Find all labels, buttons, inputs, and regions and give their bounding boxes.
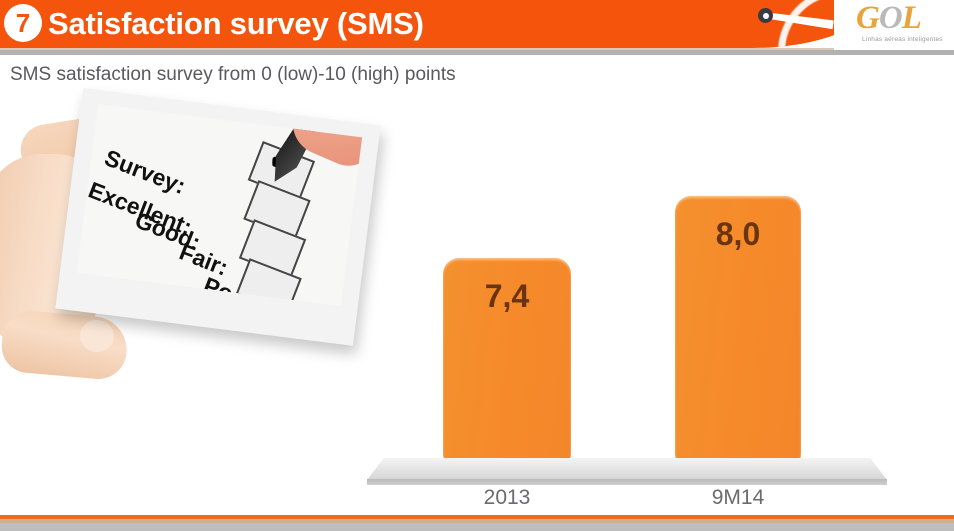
- logo-wordmark: GOL: [856, 0, 921, 37]
- survey-checkbox-column: ✓: [205, 141, 339, 306]
- slide-root: 7 Satisfaction survey (SMS) GOL Linhas a…: [0, 0, 954, 531]
- footer-band: [0, 523, 954, 531]
- logo-tagline: Linhas aéreas inteligentes: [862, 36, 943, 43]
- bar-chart: 7,4 8,0 2013 9M14: [355, 170, 900, 520]
- category-label-2013: 2013: [443, 486, 571, 510]
- bar-9m14: 8,0: [675, 196, 801, 470]
- bar-value-label: 7,4: [443, 278, 571, 315]
- section-number-badge: 7: [4, 4, 42, 42]
- subtitle-text: SMS satisfaction survey from 0 (low)-10 …: [10, 64, 456, 86]
- polaroid-photo: Survey: Excellent: Good: Fair: Poor: ✓: [77, 104, 362, 306]
- logo-letter-o: O: [879, 0, 902, 36]
- floor-front-edge: [367, 479, 887, 485]
- gauge-hub-icon: [758, 8, 773, 23]
- bar-value-label: 8,0: [675, 216, 801, 253]
- category-label-9m14: 9M14: [675, 486, 801, 510]
- chart-floor-plane: [367, 458, 887, 486]
- logo-letter-l: L: [902, 0, 921, 36]
- survey-photo-illustration: Survey: Excellent: Good: Fair: Poor: ✓: [0, 106, 385, 406]
- logo-letter-g: G: [856, 0, 879, 36]
- header-rule-gray: [0, 50, 954, 55]
- floor-surface: [367, 458, 887, 480]
- polaroid-frame: Survey: Excellent: Good: Fair: Poor: ✓: [55, 88, 380, 346]
- bar-2013: 7,4: [443, 258, 571, 470]
- page-title: Satisfaction survey (SMS): [48, 2, 424, 46]
- brand-logo: GOL Linhas aéreas inteligentes: [834, 0, 954, 50]
